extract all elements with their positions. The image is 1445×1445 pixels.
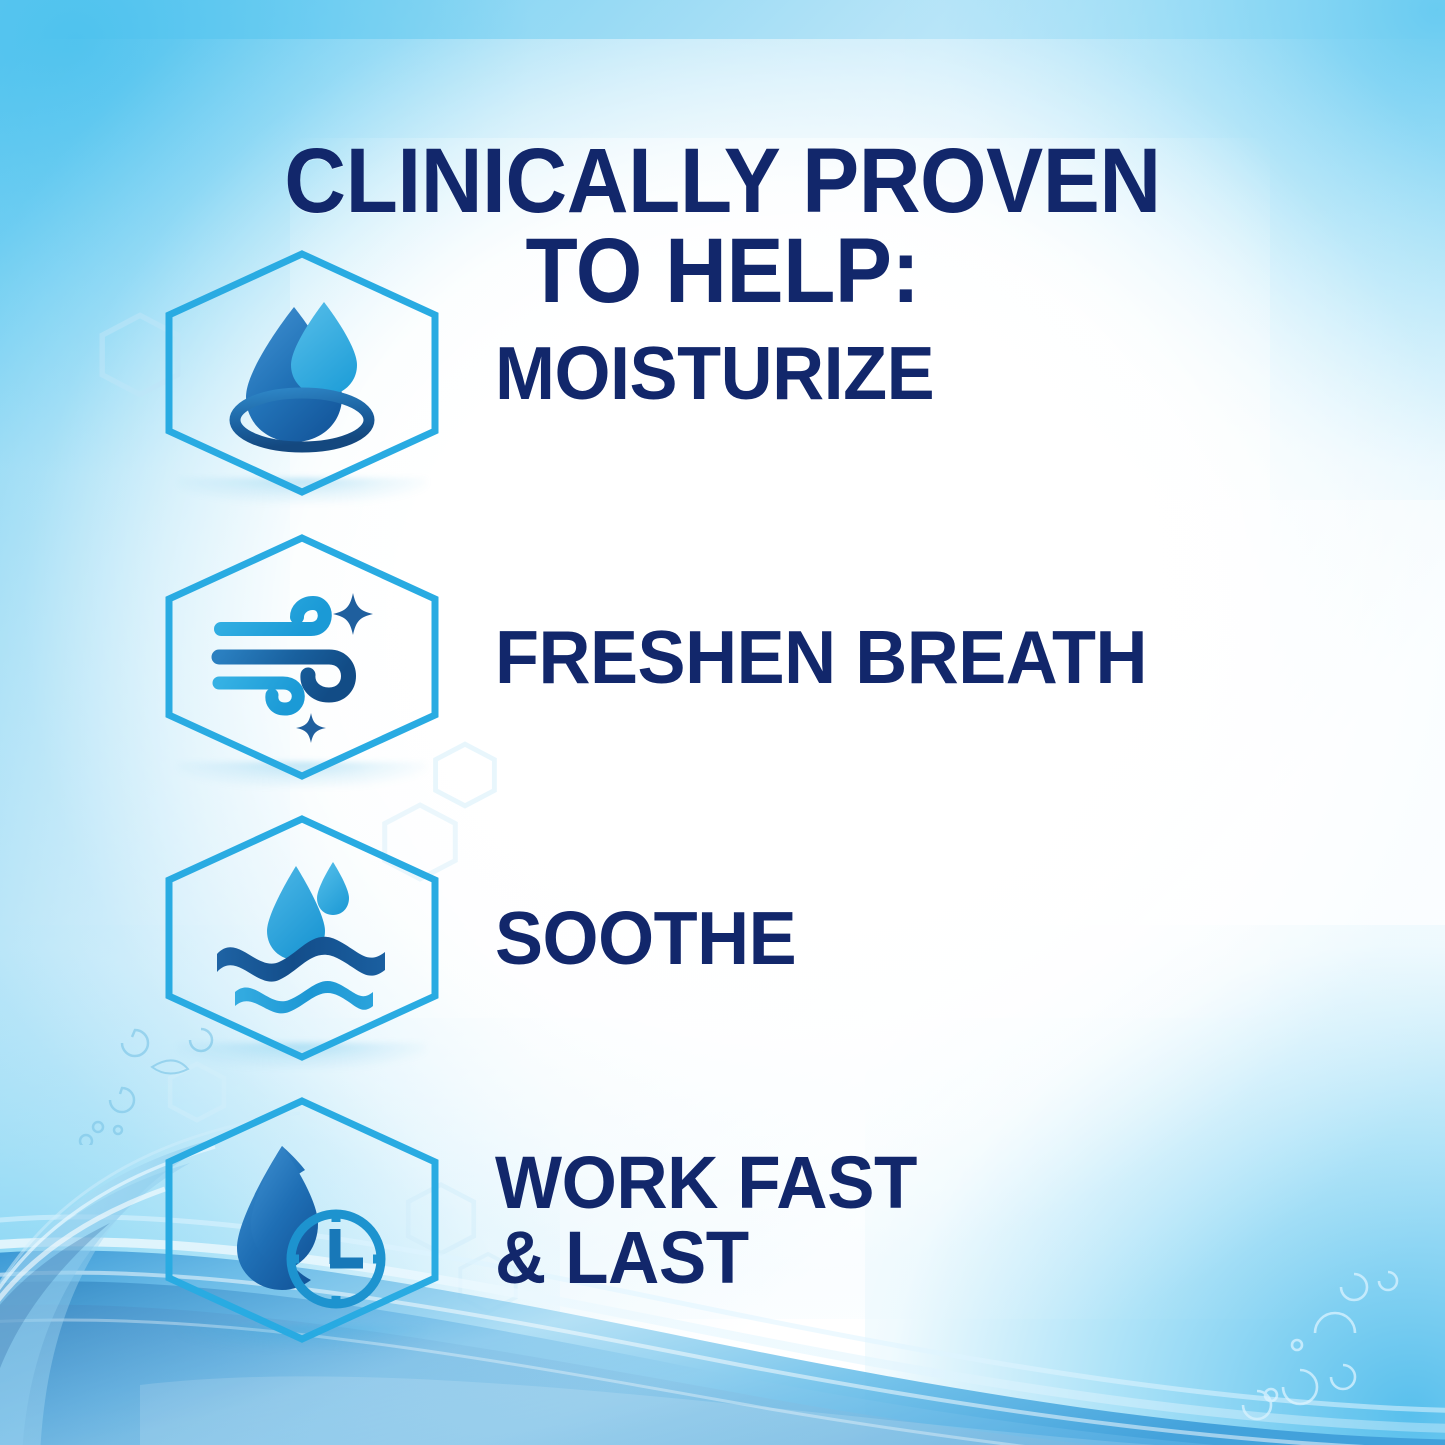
droplet-waves-icon	[163, 814, 441, 1062]
benefit-icon-badge	[157, 532, 447, 782]
wind-sparkle-icon	[163, 533, 441, 781]
benefit-icon-badge	[157, 813, 447, 1063]
benefit-row-freshen-breath: FRESHEN BREATH	[0, 532, 1445, 782]
benefit-icon-badge	[157, 1095, 447, 1345]
benefit-icon-badge	[157, 248, 447, 498]
benefit-label: SOOTHE	[495, 902, 796, 974]
benefit-label: WORK FAST & LAST	[495, 1145, 917, 1296]
headline-line-1: CLINICALLY PROVEN	[284, 130, 1160, 232]
product-benefits-poster: CLINICALLY PROVEN TO HELP:	[0, 0, 1445, 1445]
benefit-row-soothe: SOOTHE	[0, 813, 1445, 1063]
benefit-label: MOISTURIZE	[495, 337, 934, 409]
water-drop-ripple-icon	[163, 249, 441, 497]
benefit-label: FRESHEN BREATH	[495, 621, 1147, 693]
droplet-clock-icon	[163, 1096, 441, 1344]
benefit-row-work-fast-and-last: WORK FAST & LAST	[0, 1095, 1445, 1345]
benefit-row-moisturize: MOISTURIZE	[0, 248, 1445, 498]
